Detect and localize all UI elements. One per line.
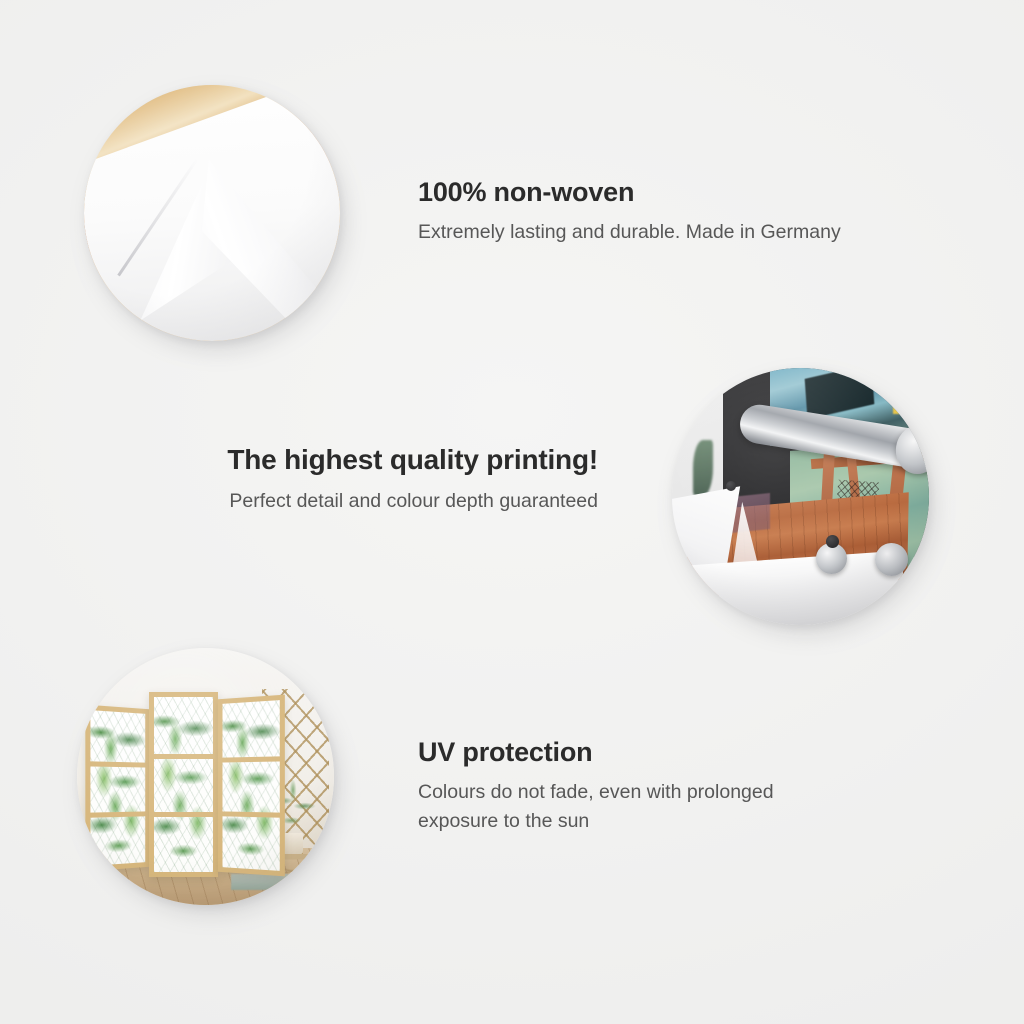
feature-body-printing-quality: Perfect detail and colour depth guarante… <box>160 487 598 515</box>
feature-body-non-woven: Extremely lasting and durable. Made in G… <box>418 218 848 246</box>
feature-infographic: 100% non-woven Extremely lasting and dur… <box>0 0 1024 1024</box>
feature-body-uv-protection: Colours do not fade, even with prolonged… <box>418 778 818 835</box>
feature-heading-printing-quality: The highest quality printing! <box>160 443 598 477</box>
feature-text-non-woven: 100% non-woven Extremely lasting and dur… <box>418 176 848 247</box>
feature-text-uv-protection: UV protection Colours do not fade, even … <box>418 736 818 835</box>
large-format-printer-photo <box>672 368 929 625</box>
feature-heading-non-woven: 100% non-woven <box>418 176 848 208</box>
tropical-room-divider-photo <box>77 648 334 905</box>
feature-heading-uv-protection: UV protection <box>418 736 818 768</box>
peeling-wallpaper-corner-photo <box>84 85 340 341</box>
medallion-inner-shading <box>84 85 340 341</box>
feature-text-printing-quality: The highest quality printing! Perfect de… <box>160 443 598 515</box>
medallion-inner-shading <box>77 648 334 905</box>
medallion-inner-shading <box>672 368 929 625</box>
